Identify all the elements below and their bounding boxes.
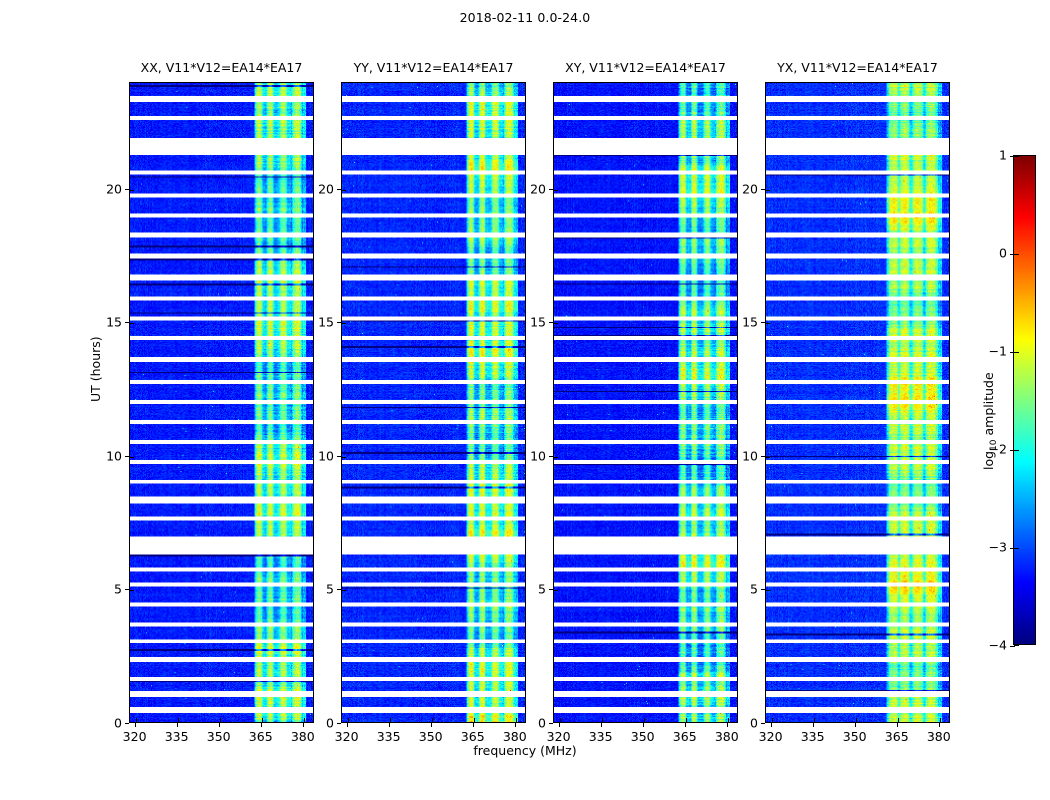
xtick-label: 350	[207, 729, 231, 744]
xtick-mark-inner	[686, 718, 687, 722]
ytick-mark	[337, 189, 341, 190]
ytick-label: 20	[318, 181, 334, 196]
xtick-mark-inner	[348, 718, 349, 722]
xtick-mark-inner	[304, 718, 305, 722]
xtick-mark	[727, 723, 728, 727]
ytick-mark	[337, 723, 341, 724]
xtick-mark	[347, 723, 348, 727]
x-axis-label: frequency (MHz)	[0, 743, 1050, 758]
xtick-mark	[897, 723, 898, 727]
figure-suptitle: 2018-02-11 0.0-24.0	[0, 10, 1050, 25]
colorbar-label-subscript: 10	[989, 439, 999, 450]
waterfall-image-xy	[554, 83, 737, 722]
ytick-label: 0	[538, 716, 546, 731]
ytick-label: 20	[106, 181, 122, 196]
panel-xx-axes[interactable]	[129, 82, 314, 723]
xtick-mark	[685, 723, 686, 727]
xtick-label: 320	[335, 729, 359, 744]
colorbar-tick-label: −4	[989, 638, 1007, 653]
colorbar-tick-mark	[1010, 646, 1015, 647]
ytick-label: 5	[750, 582, 758, 597]
xtick-label: 335	[801, 729, 825, 744]
panel-xx[interactable]: XX, V11*V12=EA14*EA17 05101520 320335350…	[129, 82, 314, 723]
xtick-mark-inner	[262, 718, 263, 722]
panel-yy-axes[interactable]	[341, 82, 526, 723]
colorbar-tick-mark-inner	[1014, 254, 1019, 255]
ytick-mark-inner	[554, 457, 558, 458]
ytick-mark	[337, 322, 341, 323]
panel-yy-title: YY, V11*V12=EA14*EA17	[354, 60, 514, 75]
xtick-label: 365	[673, 729, 697, 744]
ytick-label: 10	[742, 448, 758, 463]
ytick-label: 0	[750, 716, 758, 731]
colorbar-tick-mark-inner	[1014, 156, 1019, 157]
panel-yx-yticklabels: 05101520	[725, 82, 765, 723]
figure-canvas: 2018-02-11 0.0-24.0 XX, V11*V12=EA14*EA1…	[0, 0, 1050, 800]
xtick-mark-inner	[474, 718, 475, 722]
xtick-mark	[601, 723, 602, 727]
panel-yy-yticklabels: 05101520	[301, 82, 341, 723]
xtick-label: 320	[759, 729, 783, 744]
xtick-mark	[303, 723, 304, 727]
xtick-label: 335	[165, 729, 189, 744]
ytick-mark	[761, 456, 765, 457]
ytick-mark	[549, 189, 553, 190]
ytick-mark-inner	[342, 590, 346, 591]
ytick-mark-inner	[766, 323, 770, 324]
ytick-mark-inner	[130, 190, 134, 191]
ytick-mark	[761, 723, 765, 724]
ytick-mark	[125, 723, 129, 724]
panel-xy[interactable]: XY, V11*V12=EA14*EA17 05101520 320335350…	[553, 82, 738, 723]
xtick-label: 380	[927, 729, 951, 744]
ytick-mark	[761, 322, 765, 323]
xtick-label: 320	[123, 729, 147, 744]
xtick-mark	[219, 723, 220, 727]
xtick-mark-inner	[772, 718, 773, 722]
ytick-mark-inner	[554, 323, 558, 324]
ytick-mark-inner	[554, 190, 558, 191]
ytick-mark	[549, 589, 553, 590]
xtick-mark-inner	[940, 718, 941, 722]
panel-yx[interactable]: YX, V11*V12=EA14*EA17 05101520 320335350…	[765, 82, 950, 723]
ytick-label: 15	[530, 315, 546, 330]
ytick-mark	[125, 189, 129, 190]
ytick-label: 10	[530, 448, 546, 463]
colorbar-tick-mark-inner	[1014, 450, 1019, 451]
xtick-label: 350	[631, 729, 655, 744]
ytick-mark-inner	[130, 457, 134, 458]
waterfall-image-xx	[130, 83, 313, 722]
xtick-mark-inner	[728, 718, 729, 722]
xtick-mark-inner	[856, 718, 857, 722]
xtick-mark	[389, 723, 390, 727]
colorbar-image	[1014, 156, 1035, 644]
xtick-mark	[559, 723, 560, 727]
colorbar-tick-label: 1	[999, 148, 1007, 163]
ytick-label: 5	[114, 582, 122, 597]
ytick-label: 0	[326, 716, 334, 731]
ytick-mark	[549, 322, 553, 323]
colorbar-tick-label: −3	[989, 540, 1007, 555]
ytick-mark	[549, 456, 553, 457]
xtick-mark	[261, 723, 262, 727]
ytick-label: 10	[318, 448, 334, 463]
panel-xy-yticklabels: 05101520	[513, 82, 553, 723]
xtick-mark	[855, 723, 856, 727]
ytick-mark	[761, 189, 765, 190]
ytick-label: 15	[106, 315, 122, 330]
waterfall-image-yy	[342, 83, 525, 722]
xtick-mark-inner	[898, 718, 899, 722]
panel-xy-axes[interactable]	[553, 82, 738, 723]
ytick-label: 5	[326, 582, 334, 597]
ytick-mark-inner	[130, 323, 134, 324]
ytick-mark	[337, 589, 341, 590]
xtick-mark	[177, 723, 178, 727]
xtick-mark-inner	[644, 718, 645, 722]
xtick-mark	[643, 723, 644, 727]
y-axis-label: UT (hours)	[88, 336, 103, 402]
ytick-label: 0	[114, 716, 122, 731]
xtick-label: 380	[291, 729, 315, 744]
ytick-mark-inner	[766, 190, 770, 191]
xtick-mark	[431, 723, 432, 727]
ytick-label: 15	[742, 315, 758, 330]
ytick-mark-inner	[766, 590, 770, 591]
colorbar-label: log10 amplitude	[981, 372, 996, 470]
ytick-mark-inner	[342, 323, 346, 324]
xtick-label: 380	[715, 729, 739, 744]
xtick-mark-inner	[560, 718, 561, 722]
xtick-label: 365	[461, 729, 485, 744]
ytick-mark	[125, 589, 129, 590]
colorbar-label-prefix: log	[981, 451, 996, 470]
ytick-mark	[125, 456, 129, 457]
xtick-label: 320	[547, 729, 571, 744]
xtick-label: 335	[377, 729, 401, 744]
colorbar-tick-label: −1	[989, 344, 1007, 359]
panel-yy[interactable]: YY, V11*V12=EA14*EA17 05101520 320335350…	[341, 82, 526, 723]
xtick-mark-inner	[390, 718, 391, 722]
ytick-label: 20	[742, 181, 758, 196]
ytick-mark-inner	[554, 590, 558, 591]
colorbar-tick-mark-inner	[1014, 645, 1019, 646]
xtick-label: 335	[589, 729, 613, 744]
xtick-mark	[771, 723, 772, 727]
panel-xx-xticklabels: 320335350365380	[129, 723, 314, 743]
ytick-mark-inner	[130, 590, 134, 591]
xtick-label: 350	[419, 729, 443, 744]
colorbar-tick-label: 0	[999, 246, 1007, 261]
ytick-mark	[549, 723, 553, 724]
xtick-label: 365	[885, 729, 909, 744]
panel-yx-title: YX, V11*V12=EA14*EA17	[777, 60, 938, 75]
xtick-label: 380	[503, 729, 527, 744]
xtick-label: 365	[249, 729, 273, 744]
xtick-mark-inner	[220, 718, 221, 722]
xtick-mark-inner	[814, 718, 815, 722]
panel-xy-xticklabels: 320335350365380	[553, 723, 738, 743]
ytick-label: 20	[530, 181, 546, 196]
ytick-mark	[337, 456, 341, 457]
panel-yx-xticklabels: 320335350365380	[765, 723, 950, 743]
ytick-mark-inner	[766, 457, 770, 458]
xtick-mark-inner	[602, 718, 603, 722]
xtick-mark-inner	[432, 718, 433, 722]
ytick-mark	[125, 322, 129, 323]
panel-xx-title: XX, V11*V12=EA14*EA17	[141, 60, 303, 75]
colorbar-label-suffix: amplitude	[981, 372, 996, 439]
panel-yx-axes[interactable]	[765, 82, 950, 723]
xtick-mark	[515, 723, 516, 727]
waterfall-image-yx	[766, 83, 949, 722]
xtick-mark-inner	[516, 718, 517, 722]
colorbar-tick-mark-inner	[1014, 352, 1019, 353]
xtick-mark	[135, 723, 136, 727]
xtick-mark	[473, 723, 474, 727]
colorbar-gradient	[1013, 155, 1036, 645]
xtick-label: 350	[843, 729, 867, 744]
ytick-label: 10	[106, 448, 122, 463]
panel-xx-yticklabels: 05101520	[89, 82, 129, 723]
xtick-mark-inner	[178, 718, 179, 722]
ytick-label: 5	[538, 582, 546, 597]
ytick-mark-inner	[342, 190, 346, 191]
panel-yy-xticklabels: 320335350365380	[341, 723, 526, 743]
colorbar-tick-mark-inner	[1014, 548, 1019, 549]
ytick-mark	[761, 589, 765, 590]
colorbar-container[interactable]: −4−3−2−101	[1013, 155, 1036, 645]
ytick-mark-inner	[342, 457, 346, 458]
ytick-label: 15	[318, 315, 334, 330]
xtick-mark-inner	[136, 718, 137, 722]
panel-xy-title: XY, V11*V12=EA14*EA17	[565, 60, 726, 75]
xtick-mark	[939, 723, 940, 727]
xtick-mark	[813, 723, 814, 727]
